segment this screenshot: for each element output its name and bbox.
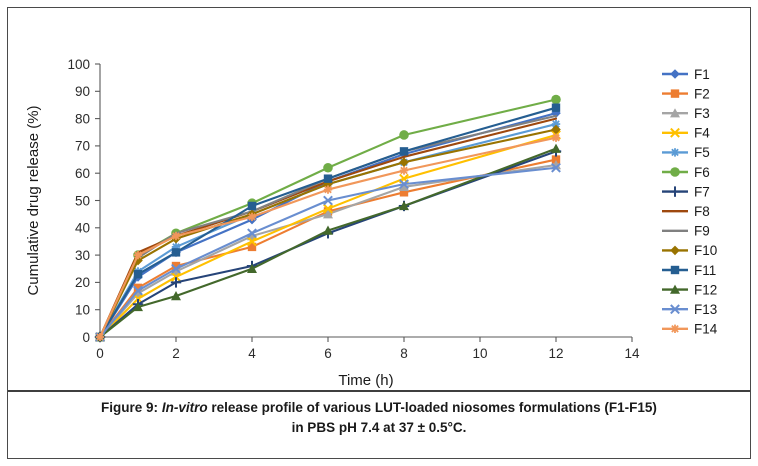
legend-label-F8: F8: [694, 204, 710, 219]
legend-item-F2[interactable]: F2: [662, 86, 710, 101]
data-marker-square: [552, 103, 560, 111]
caption-figure-number: Figure 9:: [101, 400, 158, 415]
legend-label-F6: F6: [694, 165, 710, 180]
data-marker-square: [324, 174, 332, 182]
x-axis-tick-label: 10: [472, 346, 487, 361]
legend-label-F11: F11: [694, 263, 716, 278]
data-marker-diamond: [670, 246, 680, 256]
y-axis-tick-label: 80: [75, 111, 90, 126]
caption-italic-term: In-vitro: [162, 400, 208, 415]
y-axis-tick-label: 60: [75, 166, 90, 181]
y-axis-tick-label: 20: [75, 275, 90, 290]
legend-label-F14: F14: [694, 322, 718, 337]
y-axis-tick-label: 40: [75, 221, 90, 236]
data-marker-circle: [551, 95, 561, 105]
data-marker-square: [248, 202, 256, 210]
legend-label-F2: F2: [694, 86, 710, 101]
data-marker-square: [671, 266, 679, 274]
legend-item-F8[interactable]: F8: [662, 204, 710, 219]
series-line-F1: [100, 113, 556, 337]
legend-label-F3: F3: [694, 106, 710, 121]
legend-item-F4[interactable]: F4: [662, 126, 710, 141]
y-axis-tick-label: 100: [67, 57, 90, 72]
legend-item-F11[interactable]: F11: [662, 263, 716, 278]
legend-item-F12[interactable]: F12: [662, 282, 717, 297]
data-marker-circle: [670, 167, 680, 177]
line-chart: 010203040506070809010002468101214Time (h…: [8, 8, 750, 390]
x-axis-tick-label: 6: [324, 346, 332, 361]
legend-item-F7[interactable]: F7: [662, 184, 710, 199]
caption-line2: in PBS pH 7.4 at 37 ± 0.5°C.: [292, 420, 467, 435]
figure-caption: Figure 9: In-vitro release profile of va…: [20, 398, 738, 437]
legend-item-F5[interactable]: F5: [662, 145, 710, 160]
x-axis-tick-label: 4: [248, 346, 256, 361]
y-axis-tick-label: 50: [75, 193, 90, 208]
data-marker-circle: [399, 130, 409, 140]
x-axis-tick-label: 8: [400, 346, 408, 361]
y-axis-tick-label: 10: [75, 303, 90, 318]
legend-item-F9[interactable]: F9: [662, 224, 710, 239]
x-axis-tick-label: 2: [172, 346, 180, 361]
legend-item-F1[interactable]: F1: [662, 67, 710, 82]
data-marker-square: [172, 248, 180, 256]
caption-divider: [8, 390, 750, 392]
y-axis-title: Cumulative drug release (%): [25, 105, 42, 295]
figure-container: 010203040506070809010002468101214Time (h…: [0, 0, 758, 466]
data-marker-square: [134, 270, 142, 278]
caption-line1-rest: release profile of various LUT-loaded ni…: [211, 400, 657, 415]
data-marker-triangle: [551, 144, 561, 153]
x-axis-tick-label: 14: [624, 346, 640, 361]
legend-label-F9: F9: [694, 224, 710, 239]
data-marker-circle: [323, 163, 333, 173]
y-axis-tick-label: 30: [75, 248, 90, 263]
chart-plot-area: 010203040506070809010002468101214Time (h…: [8, 8, 750, 390]
legend-label-F4: F4: [694, 126, 710, 141]
y-axis-tick-label: 0: [82, 330, 90, 345]
legend-item-F14[interactable]: F14: [662, 322, 718, 337]
x-axis-title: Time (h): [338, 372, 393, 389]
series-F11: [96, 103, 560, 341]
legend-label-F1: F1: [694, 67, 710, 82]
legend-item-F13[interactable]: F13: [662, 302, 717, 317]
data-marker-square: [400, 147, 408, 155]
y-axis-tick-label: 90: [75, 84, 90, 99]
legend-label-F7: F7: [694, 184, 710, 199]
x-axis-tick-label: 0: [96, 346, 104, 361]
legend-item-F3[interactable]: F3: [662, 106, 710, 121]
data-marker-diamond: [670, 69, 680, 79]
legend-label-F12: F12: [694, 282, 717, 297]
y-axis-tick-label: 70: [75, 139, 90, 154]
legend-item-F6[interactable]: F6: [662, 165, 710, 180]
legend-label-F10: F10: [694, 243, 717, 258]
x-axis-tick-label: 12: [548, 346, 563, 361]
data-marker-square: [671, 89, 679, 97]
legend-label-F5: F5: [694, 145, 710, 160]
legend-label-F13: F13: [694, 302, 717, 317]
legend-item-F10[interactable]: F10: [662, 243, 717, 258]
